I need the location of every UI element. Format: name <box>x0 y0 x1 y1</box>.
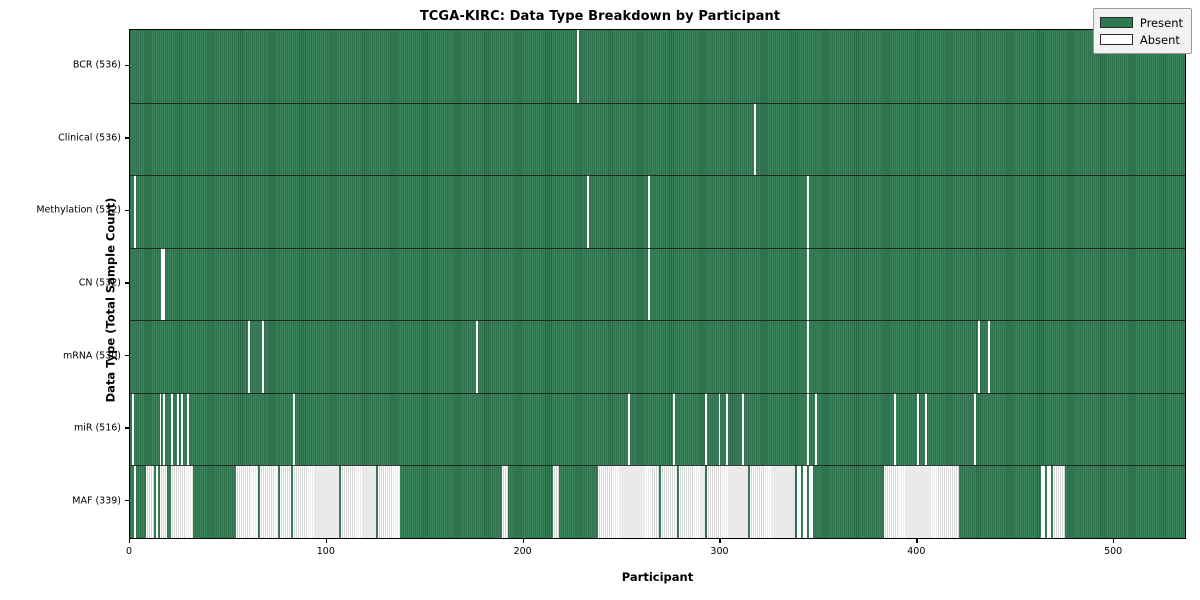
heatmap-cell-absent <box>160 465 168 538</box>
heatmap-cell-absent <box>807 393 809 466</box>
heatmap-cell-absent <box>661 465 677 538</box>
heatmap-cell-absent <box>807 320 809 393</box>
heatmap-cell-absent <box>502 465 508 538</box>
x-axis-tick-label: 500 <box>1104 546 1122 557</box>
row-separator <box>130 465 1185 466</box>
heatmap-cell-absent <box>146 465 154 538</box>
heatmap-cell-absent <box>476 320 478 393</box>
row-separator <box>130 103 1185 104</box>
heatmap-cell-absent <box>1041 465 1045 538</box>
bar-edge-stripes <box>130 248 1185 321</box>
page-title: TCGA-KIRC: Data Type Breakdown by Partic… <box>0 9 1200 24</box>
x-axis-tick-mark <box>523 539 524 543</box>
heatmap-cell-absent <box>134 465 136 538</box>
x-axis-tick-mark <box>916 539 917 543</box>
legend-item-present[interactable]: Present <box>1100 14 1183 31</box>
heatmap-row <box>130 393 1185 466</box>
x-axis-label: Participant <box>129 570 1186 584</box>
heatmap-cell-absent <box>177 393 179 466</box>
y-axis-tick-label: CN (532) <box>79 278 121 289</box>
x-axis-tick-mark <box>326 539 327 543</box>
x-axis-tick-mark <box>1113 539 1114 543</box>
heatmap-row <box>130 320 1185 393</box>
heatmap-cell-absent <box>171 465 193 538</box>
y-axis-tick-label: BCR (536) <box>73 60 121 71</box>
heatmap-cell-absent <box>161 248 165 321</box>
x-axis-tick-label: 200 <box>514 546 532 557</box>
heatmap-cell-absent <box>974 393 976 466</box>
heatmap-cell-absent <box>248 320 250 393</box>
legend-swatch-absent <box>1100 34 1133 45</box>
heatmap-cell-absent <box>726 393 728 466</box>
heatmap-plot-area[interactable] <box>129 29 1186 539</box>
heatmap-row <box>130 248 1185 321</box>
heatmap-cell-absent <box>132 393 134 466</box>
heatmap-cell-absent <box>894 393 896 466</box>
row-separator <box>130 320 1185 321</box>
x-axis-tick-label: 0 <box>126 546 132 557</box>
figure-canvas: TCGA-KIRC: Data Type Breakdown by Partic… <box>0 0 1200 600</box>
heatmap-cell-absent <box>978 320 980 393</box>
heatmap-cell-absent <box>378 465 400 538</box>
x-axis-tick-mark <box>719 539 720 543</box>
legend-swatch-present <box>1100 17 1133 28</box>
y-axis-tick-label: mRNA (530) <box>63 350 121 361</box>
heatmap-cell-absent <box>719 393 721 466</box>
y-axis-tick-label: Methylation (532) <box>36 205 121 216</box>
heatmap-cell-absent <box>293 393 295 466</box>
heatmap-cell-absent <box>884 465 959 538</box>
y-axis-tick-label: MAF (339) <box>72 495 121 506</box>
bar-edge-stripes <box>130 175 1185 248</box>
heatmap-cell-absent <box>807 175 809 248</box>
legend-item-absent[interactable]: Absent <box>1100 31 1183 48</box>
y-axis-tick-label: miR (516) <box>74 423 121 434</box>
heatmap-cell-absent <box>260 465 278 538</box>
heatmap-cell-absent <box>598 465 659 538</box>
heatmap-cell-absent <box>809 465 813 538</box>
x-axis-tick-mark <box>129 539 130 543</box>
heatmap-cell-absent <box>163 393 165 466</box>
heatmap-cell-absent <box>917 393 919 466</box>
heatmap-cell-absent <box>705 393 707 466</box>
heatmap-row <box>130 30 1185 103</box>
heatmap-cell-absent <box>815 393 817 466</box>
heatmap-cell-absent <box>742 393 744 466</box>
legend-label: Absent <box>1140 33 1180 47</box>
row-separator <box>130 175 1185 176</box>
heatmap-cell-absent <box>648 175 650 248</box>
heatmap-cell-absent <box>134 175 136 248</box>
heatmap-cell-absent <box>628 393 630 466</box>
bar-edge-stripes <box>130 103 1185 176</box>
bar-edge-stripes <box>130 320 1185 393</box>
x-axis-tick-label: 400 <box>907 546 925 557</box>
heatmap-cell-absent <box>679 465 705 538</box>
heatmap-cell-absent <box>262 320 264 393</box>
heatmap-cell-absent <box>181 393 183 466</box>
heatmap-cell-absent <box>750 465 795 538</box>
heatmap-cell-absent <box>160 393 162 466</box>
legend[interactable]: PresentAbsent <box>1093 8 1192 54</box>
heatmap-row <box>130 465 1185 538</box>
row-separator <box>130 248 1185 249</box>
x-axis-tick-label: 100 <box>317 546 335 557</box>
heatmap-cell-absent <box>553 465 559 538</box>
heatmap-cell-absent <box>587 175 589 248</box>
heatmap-cell-absent <box>1047 465 1051 538</box>
y-axis-tick-label: Clinical (536) <box>58 132 121 143</box>
heatmap-cell-absent <box>803 465 807 538</box>
bar-edge-stripes <box>130 30 1185 103</box>
heatmap-cell-absent <box>988 320 990 393</box>
heatmap-cell-absent <box>341 465 376 538</box>
heatmap-cell-absent <box>648 248 650 321</box>
heatmap-cell-absent <box>187 393 189 466</box>
heatmap-cell-absent <box>280 465 292 538</box>
heatmap-cell-absent <box>797 465 801 538</box>
row-separator <box>130 393 1185 394</box>
heatmap-cell-absent <box>577 30 579 103</box>
heatmap-cell-absent <box>171 393 173 466</box>
heatmap-cell-absent <box>807 248 809 321</box>
heatmap-cell-absent <box>754 103 756 176</box>
bar-edge-stripes <box>130 393 1185 466</box>
heatmap-row <box>130 103 1185 176</box>
heatmap-cell-absent <box>156 465 158 538</box>
heatmap-cell-absent <box>673 393 675 466</box>
x-axis-tick-label: 300 <box>710 546 728 557</box>
heatmap-cell-absent <box>925 393 927 466</box>
heatmap-cell-absent <box>236 465 258 538</box>
heatmap-cell-absent <box>293 465 338 538</box>
legend-label: Present <box>1140 16 1183 30</box>
heatmap-cell-absent <box>707 465 748 538</box>
heatmap-cell-absent <box>1053 465 1065 538</box>
y-axis-label: Data Type (Total Sample Count) <box>103 198 117 403</box>
heatmap-row <box>130 175 1185 248</box>
